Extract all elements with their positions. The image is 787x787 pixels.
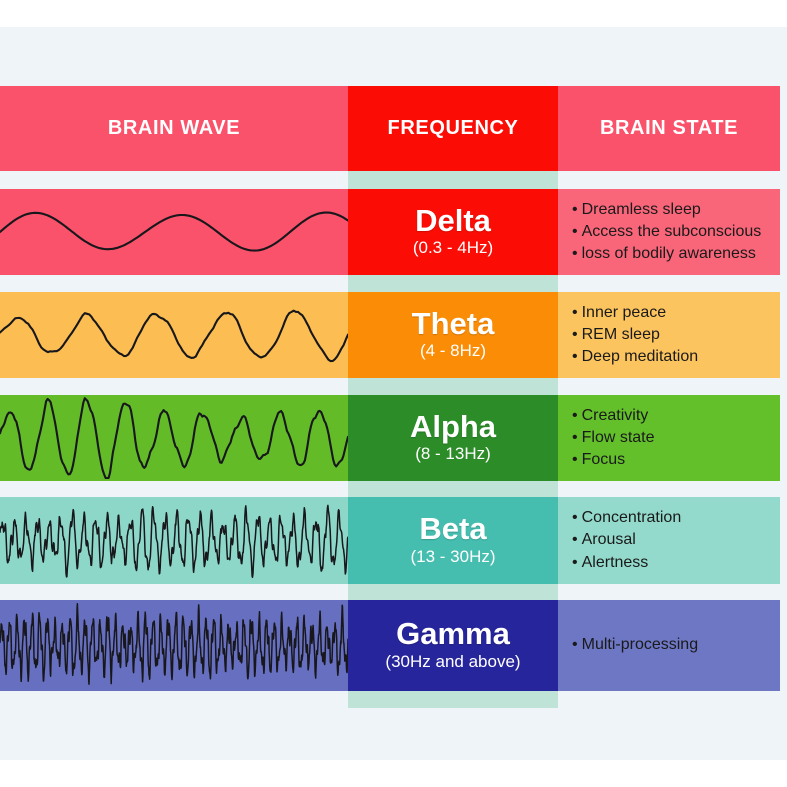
brain-state-list-item: •Creativity [572,405,774,427]
wave-frequency-range-label: (30Hz and above) [385,651,520,673]
waveform-graphic-gamma [0,600,348,691]
bullet-dot-icon: • [572,201,578,218]
brain-state-text: Multi-processing [582,636,698,653]
brain-state-text: Arousal [582,531,636,548]
brain-state-cell-delta: •Dreamless sleep•Access the subconscious… [558,189,780,275]
table-header-row: BRAIN WAVE FREQUENCY BRAIN STATE [0,86,780,171]
header-cell-brain-state: BRAIN STATE [558,86,780,171]
wave-name-label: Beta [419,513,486,545]
wave-name-label: Theta [412,308,495,340]
bullet-dot-icon: • [572,304,578,321]
brain-state-list-item: •Focus [572,449,774,471]
table-row-alpha: Alpha(8 - 13Hz)•Creativity•Flow state•Fo… [0,395,780,481]
bullet-dot-icon: • [572,348,578,365]
brain-state-cell-beta: •Concentration•Arousal•Alertness [558,497,780,584]
wave-name-label: Alpha [410,411,496,443]
bullet-dot-icon: • [572,636,578,653]
brain-state-text: Alertness [582,554,649,571]
brain-state-text: Creativity [582,407,649,424]
brain-state-text: Focus [582,451,626,468]
brain-state-text: Concentration [582,509,682,526]
frequency-cell-gamma: Gamma(30Hz and above) [348,600,558,691]
brain-state-list-item: •REM sleep [572,324,774,346]
bullet-dot-icon: • [572,245,578,262]
brainwave-chart-canvas: BRAIN WAVE FREQUENCY BRAIN STATE Delta(0… [0,0,787,787]
brain-state-text: Inner peace [582,304,667,321]
brain-state-cell-alpha: •Creativity•Flow state•Focus [558,395,780,481]
waveform-path [0,311,348,361]
brain-state-text: Access the subconscious [582,223,762,240]
bullet-dot-icon: • [572,429,578,446]
waveform-cell-delta [0,189,348,275]
bullet-dot-icon: • [572,531,578,548]
brain-state-list-item: •Arousal [572,529,774,551]
bullet-dot-icon: • [572,326,578,343]
wave-frequency-range-label: (8 - 13Hz) [415,443,491,465]
table-row-gamma: Gamma(30Hz and above)•Multi-processing [0,600,780,691]
brain-state-list-item: •Flow state [572,427,774,449]
waveform-graphic-beta [0,497,348,584]
brain-state-list-item: •Dreamless sleep [572,199,774,221]
frequency-cell-beta: Beta(13 - 30Hz) [348,497,558,584]
frequency-cell-theta: Theta(4 - 8Hz) [348,292,558,378]
header-cell-brain-wave: BRAIN WAVE [0,86,348,171]
brain-state-cell-gamma: •Multi-processing [558,600,780,691]
wave-frequency-range-label: (13 - 30Hz) [410,546,495,568]
waveform-graphic-delta [0,189,348,275]
brain-state-list-item: •Deep meditation [572,346,774,368]
waveform-cell-theta [0,292,348,378]
bullet-dot-icon: • [572,223,578,240]
brain-state-text: Flow state [582,429,655,446]
bullet-dot-icon: • [572,451,578,468]
brain-state-list-item: •loss of bodily awareness [572,243,774,265]
brain-state-list-item: •Inner peace [572,302,774,324]
bullet-dot-icon: • [572,554,578,571]
brain-state-list-item: •Access the subconscious [572,221,774,243]
brain-state-text: loss of bodily awareness [582,245,756,262]
brain-state-cell-theta: •Inner peace•REM sleep•Deep meditation [558,292,780,378]
brain-state-text: Deep meditation [582,348,699,365]
table-row-beta: Beta(13 - 30Hz)•Concentration•Arousal•Al… [0,497,780,584]
brain-state-text: REM sleep [582,326,660,343]
brain-state-list-item: •Alertness [572,552,774,574]
waveform-graphic-theta [0,292,348,378]
wave-frequency-range-label: (0.3 - 4Hz) [413,237,493,259]
brain-state-text: Dreamless sleep [582,201,701,218]
waveform-path [0,398,348,478]
frequency-cell-alpha: Alpha(8 - 13Hz) [348,395,558,481]
brain-state-list-item: •Multi-processing [572,634,774,656]
frequency-cell-delta: Delta(0.3 - 4Hz) [348,189,558,275]
waveform-cell-gamma [0,600,348,691]
waveform-path [0,505,348,577]
bullet-dot-icon: • [572,407,578,424]
wave-name-label: Delta [415,205,491,237]
waveform-cell-alpha [0,395,348,481]
wave-frequency-range-label: (4 - 8Hz) [420,340,486,362]
table-row-delta: Delta(0.3 - 4Hz)•Dreamless sleep•Access … [0,189,780,275]
header-cell-frequency: FREQUENCY [348,86,558,171]
waveform-path [0,604,348,685]
bullet-dot-icon: • [572,509,578,526]
waveform-graphic-alpha [0,395,348,481]
wave-name-label: Gamma [396,618,510,650]
table-row-theta: Theta(4 - 8Hz)•Inner peace•REM sleep•Dee… [0,292,780,378]
brain-state-list-item: •Concentration [572,507,774,529]
waveform-cell-beta [0,497,348,584]
waveform-path [0,213,348,251]
